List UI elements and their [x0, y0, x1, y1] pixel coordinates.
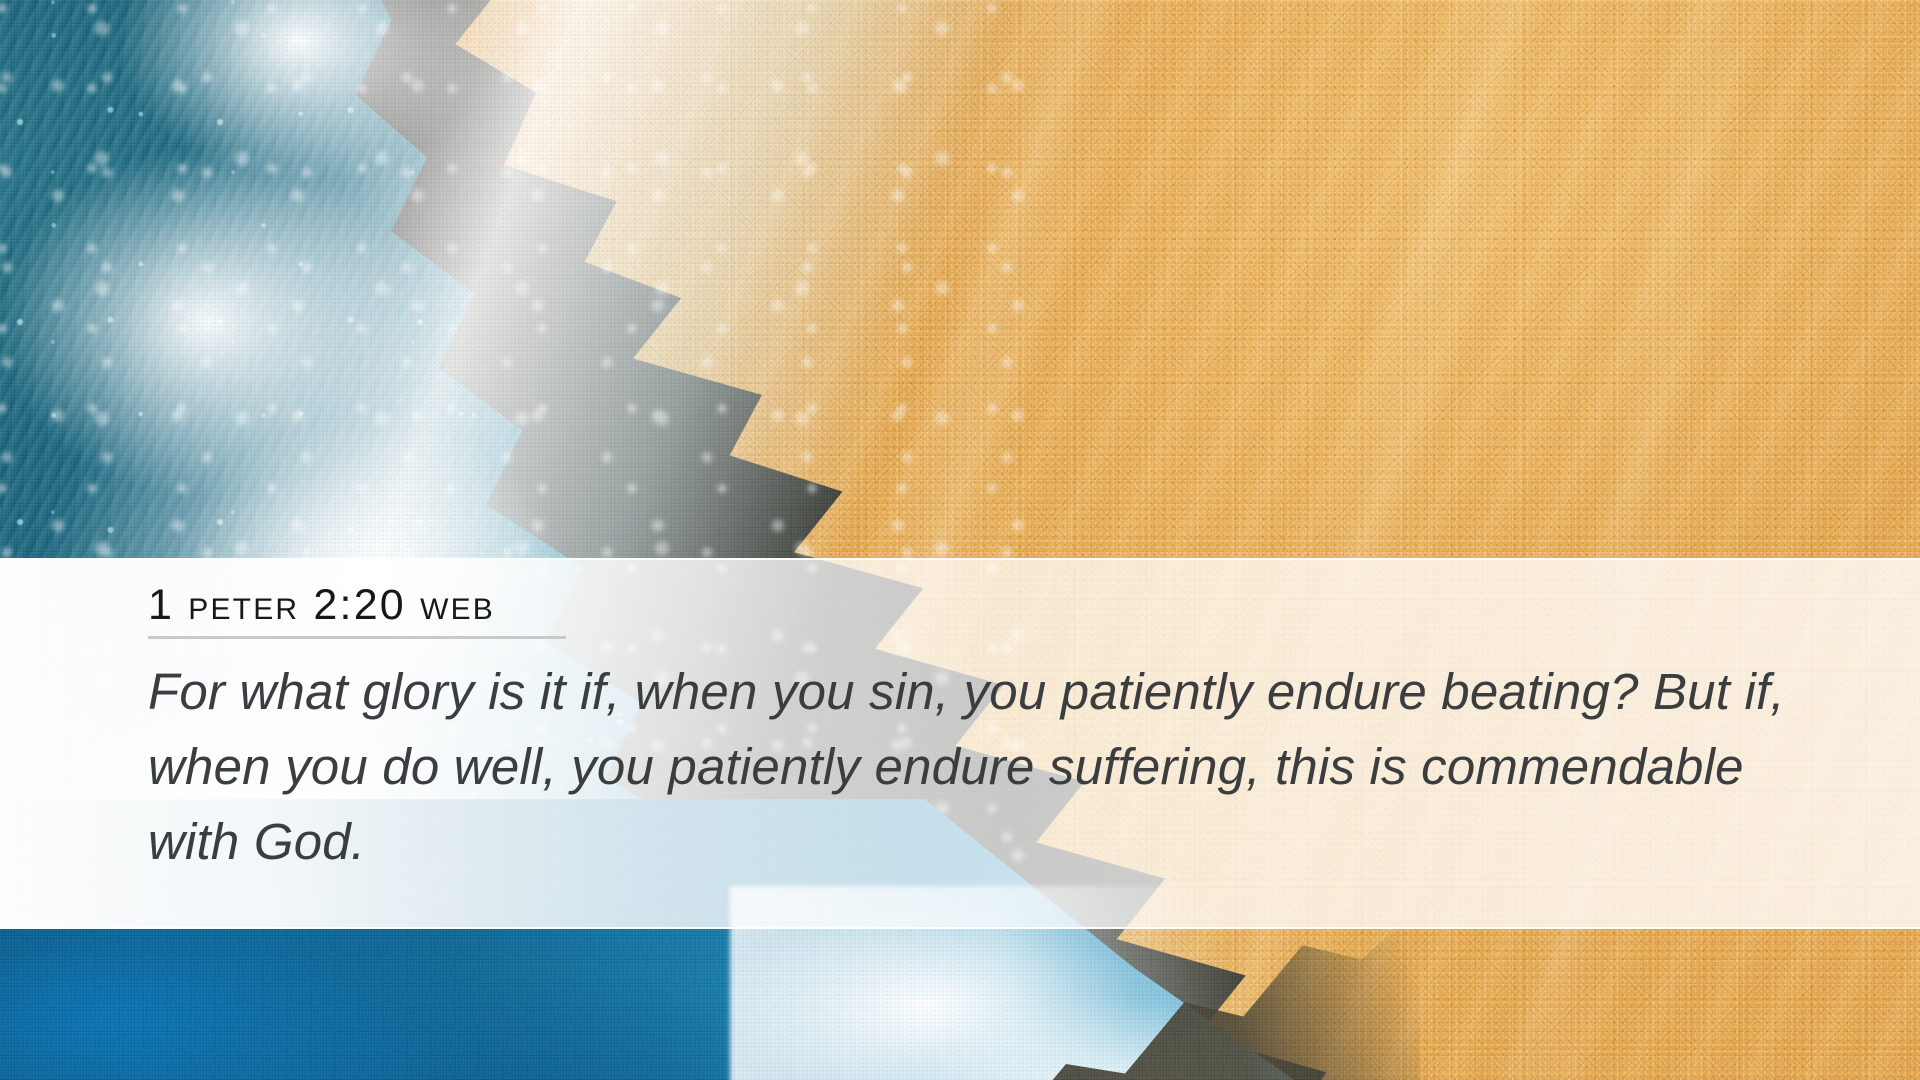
reference-underline-rule — [148, 636, 566, 639]
verse-overlay-panel: 1 Peter 2:20 WEB For what glory is it if… — [0, 558, 1920, 929]
verse-reference: 1 Peter 2:20 WEB — [148, 584, 495, 628]
verse-wallpaper: 1 Peter 2:20 WEB For what glory is it if… — [0, 0, 1920, 1080]
verse-body-text: For what glory is it if, when you sin, y… — [148, 655, 1800, 880]
